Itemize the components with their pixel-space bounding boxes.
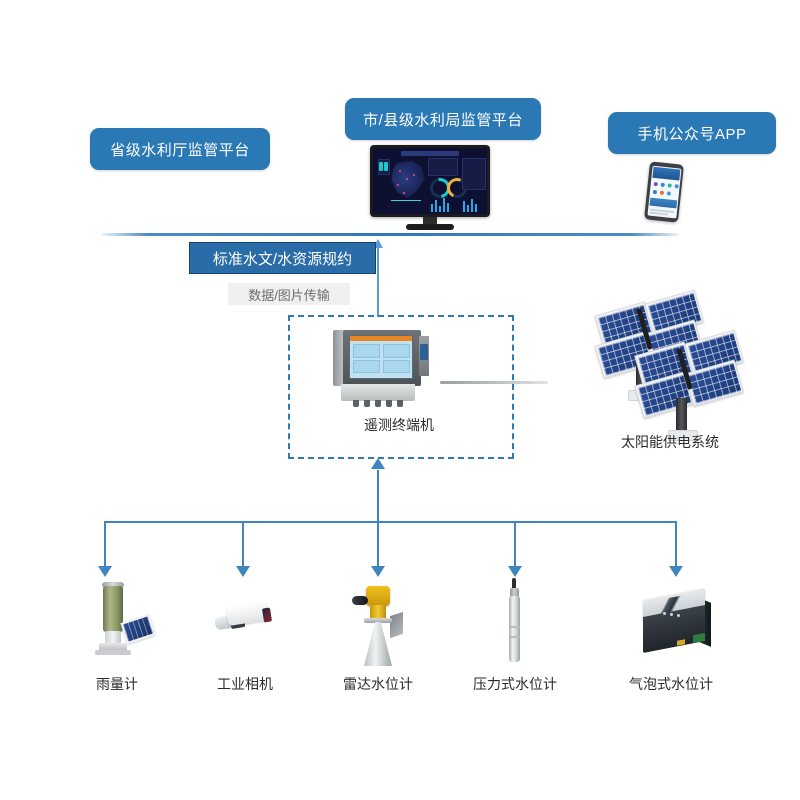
- protocol-label: 标准水文/水资源规约: [213, 248, 352, 269]
- map-dot: [403, 192, 405, 194]
- smartphone: [647, 163, 681, 225]
- rtu-cable-gland: [364, 400, 370, 407]
- bubbler-level-gauge-icon: [601, 578, 741, 670]
- rtu-cable-gland: [386, 400, 392, 407]
- pressure-level-gauge-icon: [445, 578, 585, 670]
- solar-caption: 太阳能供电系统: [590, 432, 750, 452]
- sensor-bubbler-level-gauge[interactable]: 气泡式水位计: [601, 578, 741, 670]
- dashboard-map: [390, 160, 426, 200]
- dashboard-bar: [435, 200, 437, 212]
- monitor-stand-base: [406, 224, 454, 230]
- protocol-badge: 标准水文/水资源规约: [189, 242, 376, 274]
- dashboard-bar: [467, 205, 469, 212]
- dashboard-trendline: [391, 200, 421, 201]
- map-dot: [406, 178, 408, 180]
- dashboard-bar: [475, 204, 477, 212]
- sensor-label: 雷达水位计: [308, 674, 448, 694]
- platform-city-button[interactable]: 市/县级水利局监管平台: [345, 98, 541, 140]
- dashboard-title-bar: [401, 151, 459, 156]
- rtu-uplink-arrow-icon: [371, 458, 385, 469]
- mobile-app-screen: [647, 166, 681, 219]
- radar-level-gauge-icon: [308, 578, 448, 670]
- dashboard-kpi: [379, 162, 383, 171]
- uplink-line: [377, 247, 379, 317]
- sensor-arrow-icon: [98, 566, 112, 577]
- rtu-cable-gland: [353, 400, 359, 407]
- dashboard-table-panel: [462, 158, 486, 190]
- sensor-drop-line: [675, 521, 677, 568]
- sensor-arrow-icon: [669, 566, 683, 577]
- app-header: [652, 167, 680, 181]
- rtu-downlink-line: [377, 470, 379, 522]
- platform-province-label: 省级水利厅监管平台: [110, 139, 250, 160]
- antenna-rod-icon: [440, 381, 548, 384]
- dashboard-kpi: [384, 162, 388, 171]
- diagram-canvas: 省级水利厅监管平台 市/县级水利局监管平台 手机公众号APP: [0, 0, 800, 800]
- app-icon: [667, 183, 671, 187]
- sensor-radar-level-gauge[interactable]: 雷达水位计: [308, 578, 448, 670]
- dashboard-bar: [443, 198, 445, 212]
- platform-province-button[interactable]: 省级水利厅监管平台: [90, 128, 270, 170]
- sensor-drop-line: [377, 521, 379, 568]
- rtu-caption: 遥测终端机: [288, 415, 510, 435]
- sensor-industrial-camera[interactable]: 工业相机: [175, 578, 315, 670]
- rtu-screen-titlebar: [350, 336, 412, 341]
- rtu-cable-gland: [397, 400, 403, 407]
- sensor-label: 雨量计: [47, 674, 187, 694]
- phone-body: [644, 161, 684, 222]
- solar-pole: [676, 398, 687, 432]
- rain-gauge-icon: [47, 578, 187, 670]
- sensor-drop-line: [514, 521, 516, 568]
- app-icon: [660, 183, 664, 187]
- rtu-lower-housing: [341, 384, 415, 401]
- rtu-connector-port: [420, 344, 428, 360]
- dashboard-bar: [447, 203, 449, 212]
- map-dot: [413, 174, 415, 176]
- platform-app-button[interactable]: 手机公众号APP: [608, 112, 776, 154]
- app-icon: [652, 190, 656, 194]
- dashboard-bar: [439, 206, 441, 212]
- dashboard-stat-panel: [428, 158, 458, 176]
- rtu-screen-cell: [353, 344, 380, 358]
- desktop-monitor: [370, 145, 490, 233]
- sensor-arrow-icon: [508, 566, 522, 577]
- app-icon: [659, 191, 663, 195]
- industrial-camera-icon: [175, 578, 315, 670]
- app-banner: [649, 198, 677, 209]
- sensor-label: 工业相机: [175, 674, 315, 694]
- sensor-pressure-level-gauge[interactable]: 压力式水位计: [445, 578, 585, 670]
- dashboard-bar: [471, 199, 473, 212]
- map-dot: [399, 170, 401, 172]
- sensor-rain-gauge[interactable]: 雨量计: [47, 578, 187, 670]
- app-icon: [674, 184, 678, 188]
- rtu-screen-cell: [353, 360, 380, 373]
- dashboard-bar: [463, 201, 465, 212]
- telemetry-terminal-device: [333, 330, 433, 406]
- data-transfer-badge: 数据/图片传输: [228, 283, 350, 305]
- map-dot: [397, 184, 399, 186]
- sensor-bus-line: [104, 521, 676, 523]
- sensor-label: 气泡式水位计: [601, 674, 741, 694]
- rtu-screen-cell: [383, 344, 410, 358]
- platform-city-label: 市/县级水利局监管平台: [363, 109, 523, 130]
- sensor-arrow-icon: [371, 566, 385, 577]
- sensor-drop-line: [242, 521, 244, 568]
- rtu-screen: [349, 335, 413, 379]
- rtu-cable-gland: [375, 400, 381, 407]
- app-icon: [666, 191, 670, 195]
- platform-app-label: 手机公众号APP: [637, 123, 746, 144]
- network-backbone-line: [102, 233, 678, 236]
- dashboard-bar: [431, 204, 433, 212]
- sensor-arrow-icon: [236, 566, 250, 577]
- data-transfer-label: 数据/图片传输: [248, 285, 330, 304]
- sensor-drop-line: [104, 521, 106, 568]
- sensor-label: 压力式水位计: [445, 674, 585, 694]
- app-icon: [653, 182, 657, 186]
- dashboard-screen: [373, 148, 487, 214]
- rtu-screen-cell: [383, 360, 410, 373]
- rtu-label-text: 遥测终端机: [364, 415, 434, 435]
- solar-label-text: 太阳能供电系统: [621, 432, 719, 452]
